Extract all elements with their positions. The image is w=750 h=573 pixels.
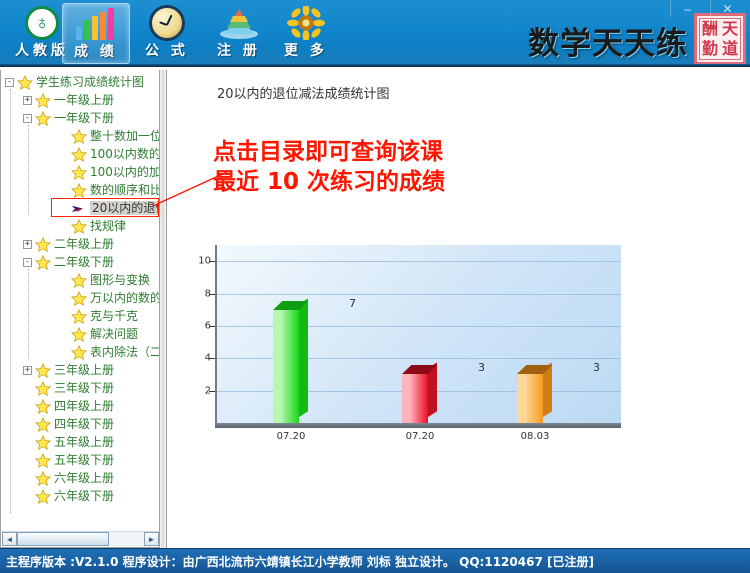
annotation-line-1: 点击目录即可查询该课 — [213, 137, 445, 167]
toolbar-button-label: 更 多 — [272, 42, 340, 58]
seal-char: 道 — [720, 39, 740, 59]
tree-item-label: 找规律 — [90, 219, 126, 233]
tree-item-label: 四年级上册 — [54, 399, 114, 413]
grid-line — [217, 294, 621, 295]
tree-item-label: 图形与变换 — [90, 273, 150, 287]
tree-item-label: 三年级下册 — [54, 381, 114, 395]
bar-value-label: 7 — [349, 297, 356, 310]
scrollbar-thumb[interactable] — [17, 532, 109, 546]
star-icon — [35, 363, 51, 378]
star-icon — [35, 489, 51, 504]
tree-item[interactable]: 克与千克 — [1, 307, 160, 325]
tree-item[interactable]: +二年级上册 — [1, 235, 160, 253]
status-bar-text: 主程序版本 :V2.1.0 程序设计：由广西北流市六靖镇长江小学教师 刘标 独立… — [6, 553, 594, 570]
application-window: ♁ 人教版 成 绩 公 式 — [0, 0, 750, 573]
tree-item-label: 100以内数的认识 — [90, 147, 160, 161]
tree-item[interactable]: 四年级上册 — [1, 397, 160, 415]
tree-item[interactable]: -一年级下册 — [1, 109, 160, 127]
x-axis-floor — [215, 423, 621, 428]
tree-item-label: 整十数加一位数 — [90, 129, 160, 143]
star-icon — [35, 237, 51, 252]
tree-spacer — [59, 168, 68, 177]
bar-value-label: 3 — [593, 361, 600, 374]
tree-item-label: 三年级上册 — [54, 363, 114, 377]
tree-item[interactable]: 100以内数的认识 — [1, 145, 160, 163]
bar-side-face — [299, 298, 308, 417]
tree-item[interactable]: 100以内的加法 — [1, 163, 160, 181]
minimize-icon[interactable]: – — [670, 0, 704, 17]
tree-item[interactable]: 解决问题 — [1, 325, 160, 343]
tree-spacer — [23, 456, 32, 465]
tree-item[interactable]: -二年级下册 — [1, 253, 160, 271]
expand-icon[interactable]: + — [23, 366, 32, 375]
pyramid-icon — [205, 3, 273, 42]
expand-icon[interactable]: + — [23, 96, 32, 105]
arrow-marker-icon — [71, 202, 87, 214]
star-icon — [71, 165, 87, 180]
star-icon — [71, 309, 87, 324]
bar-chart-icon — [63, 4, 129, 43]
chart-title: 20以内的退位减法成绩统计图 — [217, 83, 390, 102]
collapse-icon[interactable]: - — [23, 114, 32, 123]
scroll-right-icon[interactable]: ► — [144, 532, 159, 546]
tree-spacer — [23, 492, 32, 501]
annotation-line-2: 最近 10 次练习的成绩 — [213, 167, 445, 197]
tree-item[interactable]: 六年级下册 — [1, 487, 160, 505]
tree-connector — [28, 269, 29, 359]
tree-item-label: 克与千克 — [90, 309, 138, 323]
bar-chart: 246810 733 07.2007.2008.03 — [189, 245, 639, 460]
x-tick-label: 08.03 — [521, 431, 550, 442]
tree-spacer — [23, 384, 32, 393]
star-icon — [71, 183, 87, 198]
bar-front-face — [402, 374, 428, 423]
star-icon — [35, 435, 51, 450]
tree-item[interactable]: 五年级上册 — [1, 433, 160, 451]
tree-item-label: 五年级下册 — [54, 453, 114, 467]
seal-stamp: 酬 天 勤 道 — [694, 13, 746, 65]
star-icon — [71, 129, 87, 144]
grid-line — [217, 261, 621, 262]
tree-item-label: 万以内的数的认识 — [90, 291, 160, 305]
tree-item-label: 六年级下册 — [54, 489, 114, 503]
tree-spacer — [59, 150, 68, 159]
tree-item-label: 一年级上册 — [54, 93, 114, 107]
tree-spacer — [23, 420, 32, 429]
chart-bar — [517, 374, 543, 423]
chart-bar — [402, 374, 428, 423]
star-icon — [35, 399, 51, 414]
toolbar-button-zhuce[interactable]: 注 册 — [205, 3, 273, 64]
tree-item[interactable]: +一年级上册 — [1, 91, 160, 109]
star-icon — [35, 453, 51, 468]
annotation-text: 点击目录即可查询该课 最近 10 次练习的成绩 — [213, 137, 445, 197]
toolbar-button-label: 注 册 — [205, 42, 273, 58]
x-tick-label: 07.20 — [406, 431, 435, 442]
star-icon — [35, 417, 51, 432]
tree-spacer — [59, 294, 68, 303]
tree-spacer — [59, 186, 68, 195]
star-icon — [71, 327, 87, 342]
tree-connector — [10, 89, 11, 513]
chart-content-area: 20以内的退位减法成绩统计图 点击目录即可查询该课 最近 10 次练习的成绩 2… — [166, 70, 750, 548]
close-icon[interactable]: ✕ — [710, 0, 744, 17]
star-icon — [71, 219, 87, 234]
tree-item[interactable]: -学生练习成绩统计图 — [1, 73, 160, 91]
expand-icon[interactable]: + — [23, 240, 32, 249]
tree-spacer — [23, 402, 32, 411]
x-tick-label: 07.20 — [277, 431, 306, 442]
tree-item[interactable]: 四年级下册 — [1, 415, 160, 433]
star-icon — [35, 381, 51, 396]
star-icon — [71, 147, 87, 162]
tree-item[interactable]: 20以内的退位减法 — [1, 199, 160, 217]
scrollbar-track[interactable] — [17, 532, 144, 546]
tree-spacer — [59, 222, 68, 231]
bar-value-label: 3 — [478, 361, 485, 374]
tree-spacer — [59, 312, 68, 321]
toolbar-button-gengduo[interactable]: 更 多 — [272, 3, 340, 64]
tree-connector — [28, 125, 29, 215]
tree-spacer — [23, 474, 32, 483]
app-title: 数学天天练 — [528, 18, 688, 63]
tree-spacer — [59, 330, 68, 339]
chart-bar — [273, 310, 299, 423]
tree-item-label: 一年级下册 — [54, 111, 114, 125]
bar-front-face — [517, 374, 543, 423]
bar-front-face — [273, 310, 299, 423]
tree-spacer — [59, 204, 68, 213]
clock-icon — [133, 3, 201, 42]
star-icon — [35, 471, 51, 486]
tree-item[interactable]: 数的顺序和比较 — [1, 181, 160, 199]
toolbar-button-label: 成 绩 — [63, 43, 129, 59]
sunflower-icon — [272, 3, 340, 42]
star-icon — [35, 255, 51, 270]
star-icon — [35, 93, 51, 108]
collapse-icon[interactable]: - — [23, 258, 32, 267]
tree-horizontal-scrollbar[interactable]: ◄ ► — [2, 531, 159, 546]
scroll-left-icon[interactable]: ◄ — [2, 532, 17, 546]
course-tree-panel[interactable]: -学生练习成绩统计图+一年级上册-一年级下册整十数加一位数100以内数的认识10… — [0, 70, 160, 548]
star-icon — [71, 273, 87, 288]
tree-item-label: 解决问题 — [90, 327, 138, 341]
tree-item-label: 表内除法（二） — [90, 345, 160, 359]
toolbar-button-label: 公 式 — [133, 42, 201, 58]
course-tree[interactable]: -学生练习成绩统计图+一年级上册-一年级下册整十数加一位数100以内数的认识10… — [1, 73, 160, 505]
tree-item[interactable]: 整十数加一位数 — [1, 127, 160, 145]
star-icon — [35, 111, 51, 126]
tree-item-label: 二年级下册 — [54, 255, 114, 269]
tree-spacer — [59, 276, 68, 285]
tree-item-label: 五年级上册 — [54, 435, 114, 449]
star-icon — [17, 75, 33, 90]
tree-item[interactable]: 五年级下册 — [1, 451, 160, 469]
tree-item[interactable]: 图形与变换 — [1, 271, 160, 289]
star-icon — [71, 345, 87, 360]
tree-item[interactable]: 六年级上册 — [1, 469, 160, 487]
y-axis-labels: 246810 — [189, 245, 215, 423]
plot-area: 733 — [217, 245, 621, 423]
toolbar-button-gongshi[interactable]: 公 式 — [133, 3, 201, 64]
tree-item[interactable]: 找规律 — [1, 217, 160, 235]
star-icon — [71, 291, 87, 306]
toolbar-button-chengji[interactable]: 成 绩 — [62, 3, 130, 64]
seal-char: 酬 — [700, 19, 720, 39]
tree-item[interactable]: 三年级下册 — [1, 379, 160, 397]
tree-item[interactable]: 万以内的数的认识 — [1, 289, 160, 307]
collapse-icon[interactable]: - — [5, 78, 14, 87]
tree-item[interactable]: 表内除法（二） — [1, 343, 160, 361]
tree-item-label: 六年级上册 — [54, 471, 114, 485]
top-toolbar: ♁ 人教版 成 绩 公 式 — [0, 0, 750, 67]
tree-item-label: 二年级上册 — [54, 237, 114, 251]
tree-spacer — [59, 348, 68, 357]
tree-item[interactable]: +三年级上册 — [1, 361, 160, 379]
seal-char: 勤 — [700, 39, 720, 59]
tree-spacer — [59, 132, 68, 141]
status-bar: 主程序版本 :V2.1.0 程序设计：由广西北流市六靖镇长江小学教师 刘标 独立… — [0, 548, 750, 573]
tree-item-label: 四年级下册 — [54, 417, 114, 431]
tree-item-label: 学生练习成绩统计图 — [36, 75, 144, 89]
seal-char: 天 — [720, 19, 740, 39]
tree-spacer — [23, 438, 32, 447]
